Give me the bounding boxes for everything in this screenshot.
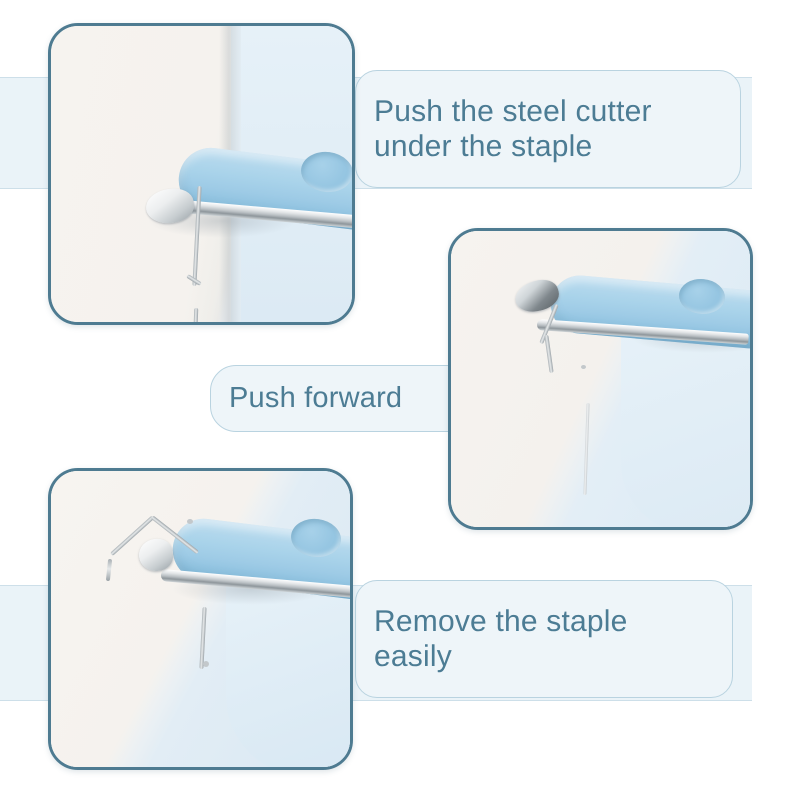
step-3-caption: Remove the staple easily	[355, 580, 733, 698]
step-1-photo-card	[48, 23, 355, 325]
step-2-caption-text: Push forward	[229, 381, 402, 415]
step-3-caption-text: Remove the staple easily	[374, 604, 628, 675]
step-3-photo	[51, 471, 350, 767]
step-1-caption-text: Push the steel cutter under the staple	[374, 94, 652, 165]
loose-staple-foot	[203, 661, 209, 667]
step-2-photo	[451, 231, 750, 527]
paper-speck	[187, 519, 193, 524]
step-2-photo-card	[448, 228, 753, 530]
paper-speck	[581, 365, 586, 369]
photo-background-corner	[621, 327, 753, 530]
step-1-photo	[51, 26, 352, 322]
step-3-photo-card	[48, 468, 353, 770]
step-1-caption: Push the steel cutter under the staple	[355, 70, 741, 188]
photo-background-corner	[226, 581, 353, 770]
instruction-graphic: Push the steel cutter under the staple P…	[0, 0, 800, 800]
